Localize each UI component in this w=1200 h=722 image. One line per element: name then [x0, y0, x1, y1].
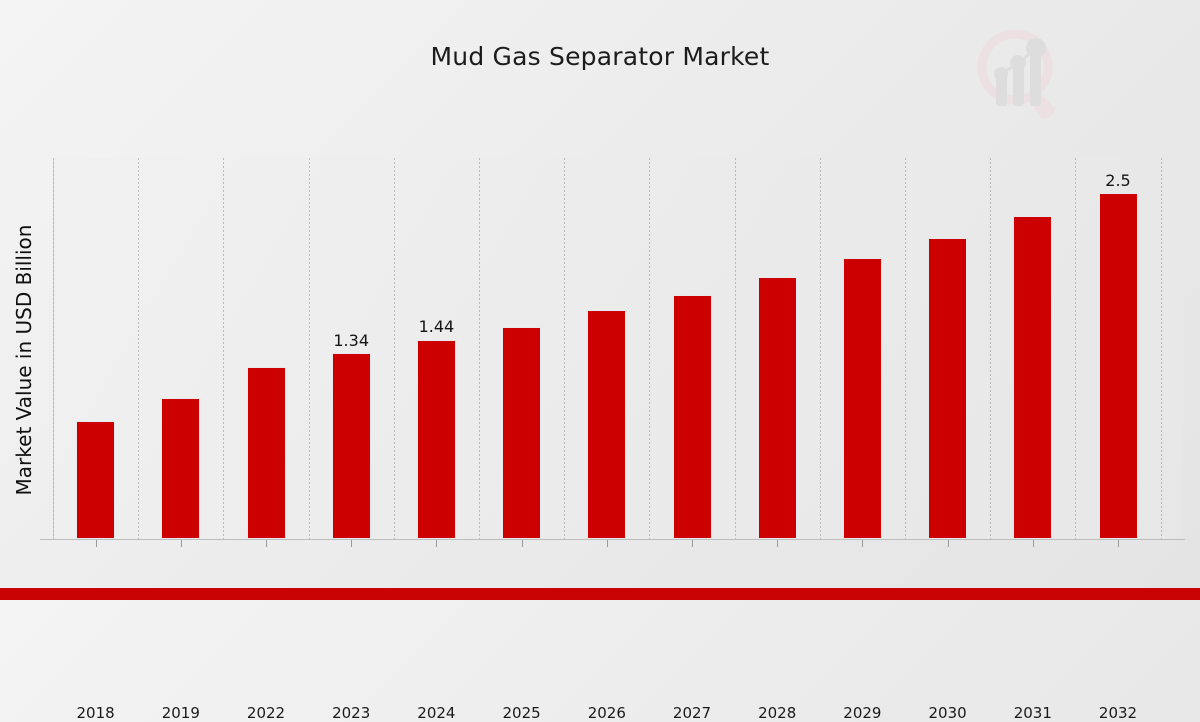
x-axis-tick — [948, 540, 949, 547]
x-axis-tick — [1033, 540, 1034, 547]
gridline — [1161, 158, 1162, 539]
x-axis-tick-label: 2030 — [913, 704, 983, 722]
x-axis-tick-label: 2032 — [1083, 704, 1153, 722]
magnifier-bar-chart-logo — [963, 22, 1073, 122]
x-axis-tick-label: 2018 — [61, 704, 131, 722]
x-axis-tick — [1118, 540, 1119, 547]
gridline — [905, 158, 906, 539]
x-axis-tick — [436, 540, 437, 547]
bar — [587, 310, 626, 539]
gridline — [1075, 158, 1076, 539]
x-axis-tick-label: 2028 — [742, 704, 812, 722]
bar — [1013, 216, 1052, 539]
x-axis-tick — [351, 540, 352, 547]
bar — [843, 258, 882, 539]
x-axis-tick-label: 2019 — [146, 704, 216, 722]
gridline — [990, 158, 991, 539]
x-axis-tick-label: 2027 — [657, 704, 727, 722]
bar — [928, 238, 967, 539]
bar — [417, 340, 456, 540]
bar — [76, 421, 115, 539]
x-axis-tick-label: 2031 — [998, 704, 1068, 722]
bar — [161, 398, 200, 539]
x-axis-tick-label: 2029 — [827, 704, 897, 722]
bar — [673, 295, 712, 539]
footer-accent-bar — [0, 588, 1200, 600]
gridline — [309, 158, 310, 539]
x-axis-tick — [266, 540, 267, 547]
gridline — [138, 158, 139, 539]
gridline — [564, 158, 565, 539]
x-axis-tick — [777, 540, 778, 547]
bar-value-label: 1.34 — [321, 331, 381, 350]
x-axis-tick — [607, 540, 608, 547]
gridline — [479, 158, 480, 539]
x-axis-tick-label: 2022 — [231, 704, 301, 722]
gridline — [820, 158, 821, 539]
x-axis-tick — [522, 540, 523, 547]
x-axis-tick — [181, 540, 182, 547]
x-axis-tick-label: 2026 — [572, 704, 642, 722]
x-axis-line — [40, 539, 1185, 540]
x-axis-tick-label: 2023 — [316, 704, 386, 722]
bar — [1099, 193, 1138, 539]
x-axis-tick-label: 2024 — [401, 704, 471, 722]
gridline — [394, 158, 395, 539]
x-axis-tick — [862, 540, 863, 547]
plot-area: 1.341.442.5 2018201920222023202420252026… — [53, 158, 1183, 539]
bar-value-label: 2.5 — [1088, 171, 1148, 190]
gridline — [223, 158, 224, 539]
bar — [758, 277, 797, 539]
bar-value-label: 1.44 — [406, 317, 466, 336]
gridline — [53, 158, 54, 539]
gridline — [735, 158, 736, 539]
x-axis-tick — [692, 540, 693, 547]
chart-page: Mud Gas Separator Market Market Value in… — [0, 0, 1200, 600]
bar — [332, 353, 371, 539]
x-axis-tick — [96, 540, 97, 547]
bar — [247, 367, 286, 539]
bar — [502, 327, 541, 539]
y-axis-label: Market Value in USD Billion — [12, 160, 36, 560]
gridline — [649, 158, 650, 539]
x-axis-tick-label: 2025 — [487, 704, 557, 722]
